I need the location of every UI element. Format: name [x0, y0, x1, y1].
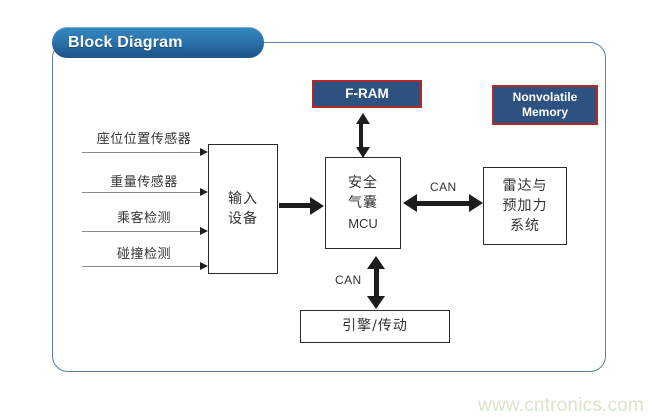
- can-label-bottom: CAN: [335, 273, 362, 287]
- node-airbag-mcu-line1: 安全: [348, 173, 378, 193]
- input-connector-arrowhead-1: [200, 148, 208, 156]
- node-nonvolatile-memory-line1: Nonvolatile: [513, 90, 578, 105]
- node-radar-line1: 雷达与: [503, 176, 548, 196]
- input-connector-line-2: [82, 192, 202, 193]
- page-title: Block Diagram: [52, 34, 183, 52]
- input-connector-line-3: [82, 231, 202, 232]
- node-radar-pretensioner-system: 雷达与 预加力 系统: [483, 167, 567, 245]
- node-airbag-mcu-line2: 气囊: [348, 193, 378, 213]
- input-connector-line-4: [82, 266, 202, 267]
- input-connector-arrowhead-2: [200, 188, 208, 196]
- site-watermark: www.cntronics.com: [478, 395, 644, 417]
- node-fram: F-RAM: [312, 80, 422, 108]
- arrow-mcu-engine-shaft: [374, 267, 379, 299]
- node-engine-transmission-label: 引擎/传动: [342, 316, 408, 336]
- node-radar-line3: 系统: [510, 216, 540, 236]
- node-airbag-mcu: 安全 气囊 MCU: [325, 157, 401, 249]
- node-nonvolatile-memory: Nonvolatile Memory: [492, 85, 598, 125]
- input-connector-arrowhead-3: [200, 227, 208, 235]
- input-label-weight-sensor: 重量传感器: [84, 171, 204, 190]
- arrow-fram-mcu-shaft: [359, 122, 363, 150]
- arrow-input-to-mcu-head: [310, 197, 324, 215]
- input-connector-line-1: [82, 152, 202, 153]
- arrow-input-to-mcu-shaft: [279, 203, 312, 208]
- node-input-device: 输入 设备: [208, 144, 278, 274]
- node-input-device-line1: 输入: [228, 189, 258, 209]
- node-nonvolatile-memory-line2: Memory: [522, 105, 568, 120]
- node-airbag-mcu-line3: MCU: [348, 214, 378, 234]
- arrow-fram-mcu-head-down: [356, 147, 370, 158]
- panel-title-tab: Block Diagram: [52, 27, 264, 58]
- input-connector-arrowhead-4: [200, 262, 208, 270]
- node-engine-transmission: 引擎/传动: [300, 310, 450, 343]
- node-fram-label: F-RAM: [345, 85, 389, 102]
- node-input-device-line2: 设备: [228, 209, 258, 229]
- arrow-mcu-radar-head-right: [469, 194, 483, 212]
- node-radar-line2: 预加力: [503, 196, 548, 216]
- arrow-mcu-radar-shaft: [415, 201, 473, 206]
- can-label-right: CAN: [430, 180, 457, 194]
- arrow-mcu-engine-head-down: [367, 296, 385, 309]
- input-label-passenger-detection: 乘客检测: [84, 207, 204, 226]
- input-label-seat-position-sensor: 座位位置传感器: [84, 128, 204, 147]
- input-label-crash-detection: 碰撞检测: [84, 243, 204, 262]
